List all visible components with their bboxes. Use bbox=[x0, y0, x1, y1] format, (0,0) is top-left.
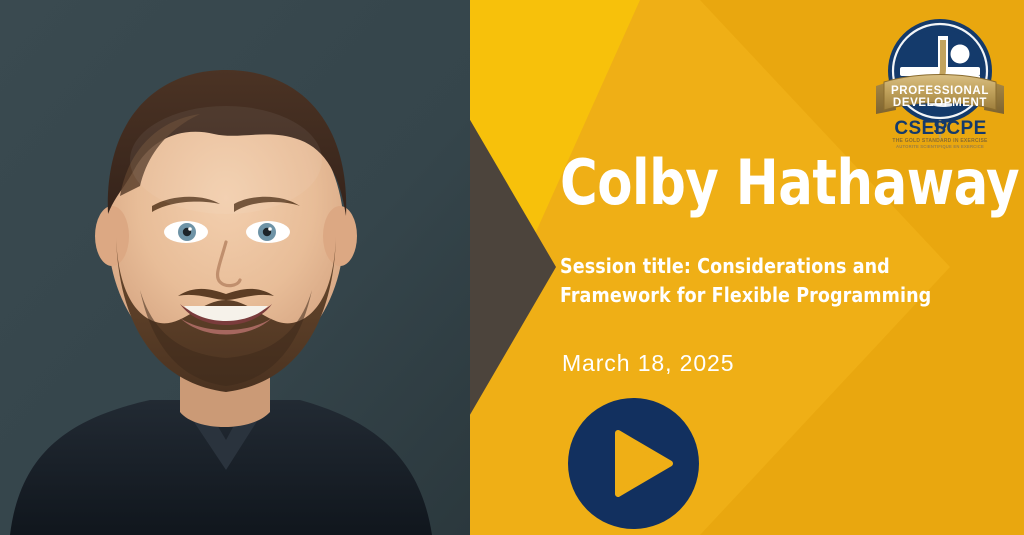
session-date: March 18, 2025 bbox=[562, 350, 734, 377]
csep-scpe-logo: PROFESSIONAL DEVELOPMENT CSEP | SCPE THE… bbox=[866, 14, 1014, 152]
play-triangle-icon bbox=[568, 398, 699, 529]
logo-tagline-fr: AUTORITE SCIENTIFIQUE EN EXERCICE bbox=[896, 144, 984, 149]
session-title: Session title: Considerations and Framew… bbox=[560, 252, 1007, 310]
csep-logo-svg: PROFESSIONAL DEVELOPMENT CSEP | SCPE THE… bbox=[866, 14, 1014, 152]
logo-wordmark-scpe: SCPE bbox=[933, 118, 986, 139]
play-video-button[interactable] bbox=[568, 398, 699, 529]
webinar-title-card: Colby Hathaway Session title: Considerat… bbox=[0, 0, 1024, 535]
speaker-photo bbox=[0, 0, 470, 535]
speaker-name: Colby Hathaway bbox=[560, 150, 956, 216]
ribbon-line-1: PROFESSIONAL bbox=[891, 85, 989, 97]
ribbon-line-2: DEVELOPMENT bbox=[893, 97, 987, 109]
speaker-portrait-illustration bbox=[0, 0, 470, 535]
